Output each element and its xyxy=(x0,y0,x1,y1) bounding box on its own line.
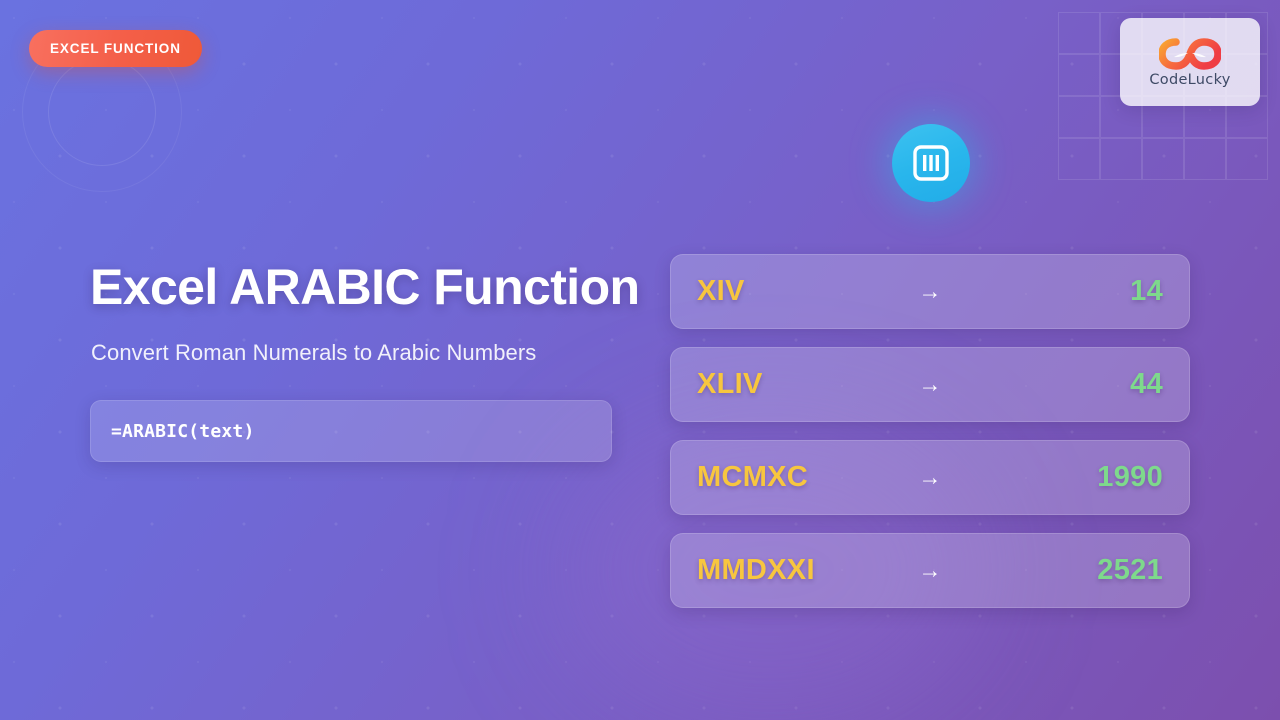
page-title: Excel ARABIC Function xyxy=(90,258,640,316)
conversion-card: MMDXXI → 2521 xyxy=(670,533,1190,608)
arabic-number-value: 1990 xyxy=(1097,461,1163,494)
arabic-number-value: 2521 xyxy=(1097,554,1163,587)
arabic-number-value: 14 xyxy=(1130,275,1163,308)
category-badge-label: EXCEL FUNCTION xyxy=(50,41,181,56)
arabic-number-value: 44 xyxy=(1130,368,1163,401)
background-circle-inner xyxy=(48,58,156,166)
infinity-leaf-icon xyxy=(1159,37,1221,71)
conversion-examples-list: XIV → 14 XLIV → 44 MCMXC → 1990 MMDXXI →… xyxy=(670,254,1190,608)
conversion-card: XLIV → 44 xyxy=(670,347,1190,422)
roman-numeral-bars-icon xyxy=(892,124,970,202)
conversion-card: MCMXC → 1990 xyxy=(670,440,1190,515)
slide-canvas: EXCEL FUNCTION CodeLucky xyxy=(0,0,1280,720)
formula-syntax-box: =ARABIC(text) xyxy=(90,400,612,462)
formula-syntax-text: =ARABIC(text) xyxy=(111,421,254,442)
category-badge: EXCEL FUNCTION xyxy=(29,30,202,67)
page-subtitle: Convert Roman Numerals to Arabic Numbers xyxy=(91,340,536,366)
brand-logo-label: CodeLucky xyxy=(1149,72,1230,88)
brand-logo-card: CodeLucky xyxy=(1120,18,1260,106)
conversion-card: XIV → 14 xyxy=(670,254,1190,329)
arrow-right-icon: → xyxy=(671,373,1189,396)
arrow-right-icon: → xyxy=(671,280,1189,303)
